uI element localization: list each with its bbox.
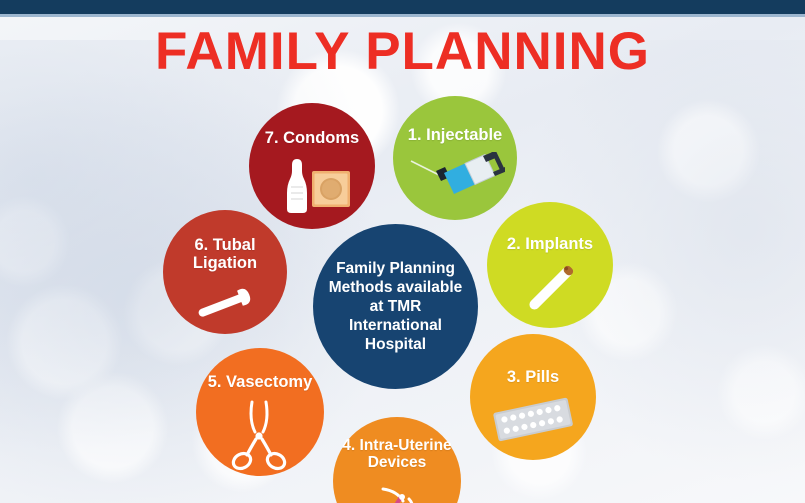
method-label-intra-uterine-devices: 4. Intra-Uterine Devices — [333, 437, 461, 472]
method-label-vasectomy: 5. Vasectomy — [196, 373, 324, 391]
clamp-rod-icon — [163, 282, 287, 326]
method-circle-injectable[interactable]: 1. Injectable — [393, 96, 517, 220]
page-title: FAMILY PLANNING — [0, 22, 805, 82]
top-accent-line — [0, 14, 805, 17]
family-planning-infographic: FAMILY PLANNING 7. Condoms 1. Injectable — [0, 0, 805, 503]
center-hub: Family Planning Methods available at TMR… — [313, 224, 478, 389]
method-label-pills: 3. Pills — [470, 368, 596, 386]
syringe-icon — [393, 152, 517, 206]
method-circle-intra-uterine-devices[interactable]: 4. Intra-Uterine Devices — [333, 417, 461, 503]
pill-blister-pack-icon — [470, 392, 596, 446]
surgical-scissors-icon — [196, 398, 324, 474]
method-label-tubal-ligation: 6. Tubal Ligation — [163, 236, 287, 273]
method-circle-pills[interactable]: 3. Pills — [470, 334, 596, 460]
center-hub-text: Family Planning Methods available at TMR… — [313, 259, 478, 354]
method-circle-tubal-ligation[interactable]: 6. Tubal Ligation — [163, 210, 287, 334]
implant-rod-icon — [487, 260, 613, 318]
method-label-condoms: 7. Condoms — [249, 129, 375, 147]
iud-coil-icon — [333, 485, 461, 503]
method-circle-implants[interactable]: 2. Implants — [487, 202, 613, 328]
method-label-implants: 2. Implants — [487, 235, 613, 253]
method-circle-vasectomy[interactable]: 5. Vasectomy — [196, 348, 324, 476]
top-navy-bar — [0, 0, 805, 14]
method-circle-condoms[interactable]: 7. Condoms — [249, 103, 375, 229]
method-label-injectable: 1. Injectable — [393, 126, 517, 144]
condom-and-wrapper-icon — [249, 153, 375, 213]
